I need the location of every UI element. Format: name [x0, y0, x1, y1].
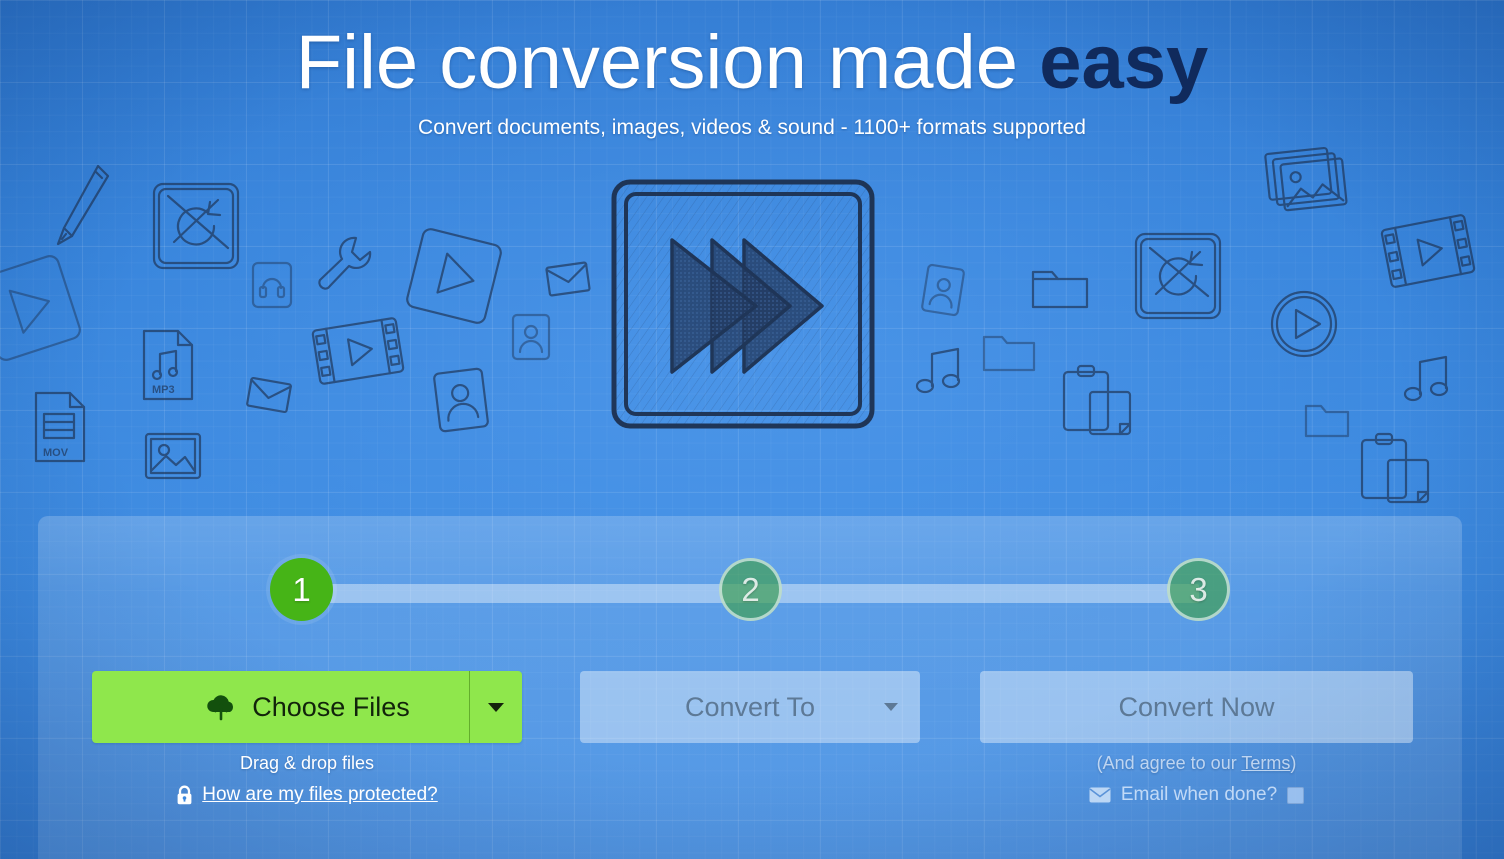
convert-now-column: Convert Now (And agree to our Terms) Ema…: [980, 671, 1413, 806]
converter-panel: 1 2 3 Choose Files Drag & drop files: [38, 516, 1462, 859]
clipboard-icon: [1356, 430, 1434, 506]
page-subtitle: Convert documents, images, videos & soun…: [0, 116, 1504, 140]
files-protected-label: How are my files protected?: [202, 784, 438, 806]
folder-icon: [1028, 264, 1092, 312]
choose-files-label: Choose Files: [252, 692, 410, 723]
page-root: MP3 MOV File conversion: [0, 0, 1504, 859]
convert-to-label: Convert To: [685, 692, 815, 723]
email-when-done-row[interactable]: Email when done?: [980, 784, 1413, 806]
svg-text:MP3: MP3: [152, 384, 175, 396]
folder-icon: [980, 330, 1038, 374]
pencil-icon: [52, 160, 112, 250]
chevron-down-icon: [884, 703, 898, 711]
fast-forward-sketch-icon: [604, 172, 882, 440]
headline-accent-text: easy: [1039, 20, 1208, 105]
svg-text:MOV: MOV: [43, 447, 69, 459]
controls-row: Choose Files Drag & drop files How are m…: [38, 671, 1462, 751]
clipboard-icon: [1058, 362, 1136, 438]
music-note-icon: [910, 342, 968, 396]
convert-now-button[interactable]: Convert Now: [980, 671, 1413, 743]
refresh-square-icon: [1130, 228, 1226, 324]
step-number-3: 3: [1189, 571, 1207, 609]
image-file-icon: [142, 430, 204, 484]
choose-files-dropdown-toggle[interactable]: [469, 671, 522, 743]
step-number-2: 2: [741, 571, 759, 609]
mov-file-icon: MOV: [28, 388, 92, 466]
headline-main-text: File conversion made: [296, 20, 1039, 105]
wrench-icon: [312, 232, 380, 296]
terms-notice: (And agree to our Terms): [980, 753, 1413, 774]
step-indicator-3[interactable]: 3: [1167, 558, 1230, 621]
photo-stack-icon: [1261, 142, 1354, 219]
envelope-icon: [1089, 787, 1111, 803]
terms-prefix: (And agree to our: [1097, 753, 1242, 773]
play-square-icon: [0, 245, 91, 371]
refresh-square-icon: [148, 178, 244, 274]
email-when-done-checkbox[interactable]: [1287, 787, 1304, 804]
convert-now-label: Convert Now: [1118, 692, 1274, 723]
files-protected-link[interactable]: How are my files protected?: [92, 784, 522, 806]
music-note-icon: [1398, 350, 1456, 404]
play-square-icon: [398, 220, 510, 332]
envelope-icon: [243, 374, 294, 415]
contact-card-icon: [916, 259, 970, 322]
terms-link[interactable]: Terms: [1241, 753, 1290, 773]
step-indicator-1[interactable]: 1: [270, 558, 333, 621]
folder-icon: [1302, 400, 1352, 440]
page-title: File conversion made easy: [0, 24, 1504, 102]
film-strip-icon: [1376, 208, 1480, 294]
hero-section: File conversion made easy Convert docume…: [0, 0, 1504, 140]
mp3-file-icon: MP3: [136, 326, 200, 404]
play-circle-icon: [1268, 288, 1340, 360]
terms-suffix: ): [1290, 753, 1296, 773]
convert-to-column: Convert To: [580, 671, 920, 743]
envelope-icon: [543, 259, 593, 299]
step-number-1: 1: [292, 571, 310, 609]
email-when-done-label: Email when done?: [1121, 784, 1277, 806]
drag-drop-hint: Drag & drop files: [92, 753, 522, 774]
convert-to-dropdown[interactable]: Convert To: [580, 671, 920, 743]
film-strip-icon: [307, 311, 408, 391]
cloud-upload-icon: [204, 693, 238, 721]
step-progress-bar: 1 2 3: [38, 558, 1462, 628]
lock-icon: [176, 785, 193, 805]
headphones-file-icon: [248, 258, 296, 312]
contact-card-icon: [508, 310, 554, 364]
chevron-down-icon: [488, 703, 504, 712]
choose-files-column: Choose Files Drag & drop files How are m…: [92, 671, 522, 806]
contact-card-icon: [428, 363, 494, 438]
step-indicator-2[interactable]: 2: [719, 558, 782, 621]
choose-files-button[interactable]: Choose Files: [92, 671, 522, 743]
